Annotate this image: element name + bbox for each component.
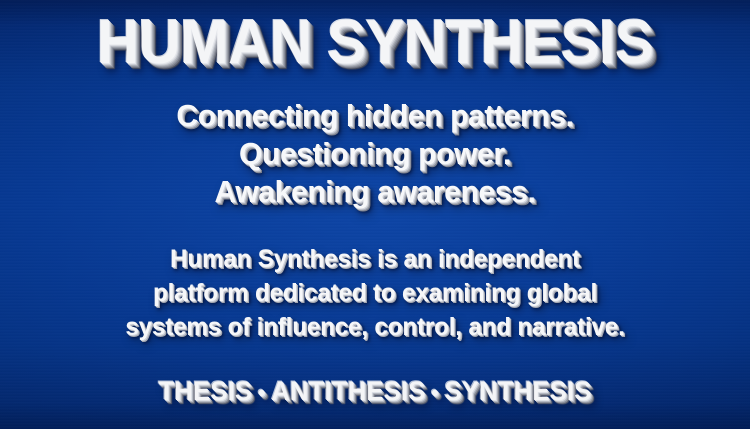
tagline-word-synthesis: SYNTHESIS [444,376,591,406]
description-line-2: platform dedicated to examining global [11,276,739,310]
bullet-separator-icon: • [252,377,271,409]
description-line-3: systems of influence, control, and narra… [11,310,739,344]
description-block: Human Synthesis is an independent platfo… [0,242,750,344]
page-title: HUMAN SYNTHESIS [23,12,728,74]
tagline-word-thesis: THESIS [158,376,252,406]
bullet-separator-icon: • [426,377,445,409]
subtitle-block: Connecting hidden patterns. Questioning … [0,97,750,211]
tagline-word-antithesis: ANTITHESIS [271,376,425,406]
banner-content: HUMAN SYNTHESIS Connecting hidden patter… [0,0,750,429]
tagline: THESIS•ANTITHESIS•SYNTHESIS [19,375,732,409]
human-synthesis-banner: HUMAN SYNTHESIS Connecting hidden patter… [0,0,750,429]
subtitle-line-1: Connecting hidden patterns. [11,97,739,135]
description-line-1: Human Synthesis is an independent [11,242,739,276]
subtitle-line-2: Questioning power. [11,135,739,173]
subtitle-line-3: Awakening awareness. [11,173,739,211]
